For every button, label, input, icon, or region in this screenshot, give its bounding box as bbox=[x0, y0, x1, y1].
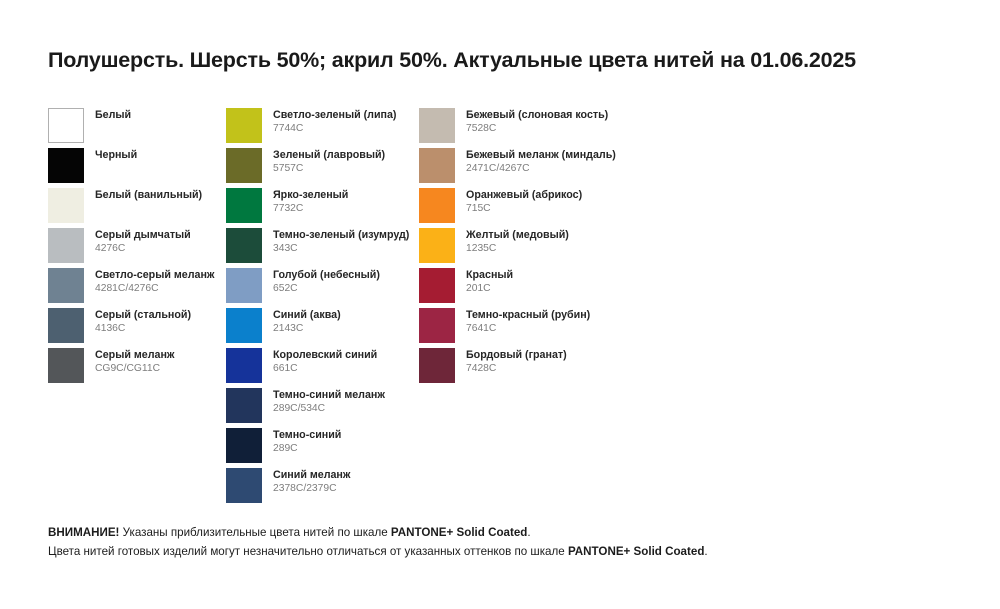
swatch-row: Голубой (небесный)652C bbox=[226, 268, 419, 308]
swatch-text: Оранжевый (абрикос)715C bbox=[455, 188, 582, 215]
swatch-row: Серый (стальной)4136C bbox=[48, 308, 226, 348]
swatch-row: Темно-синий289C bbox=[226, 428, 419, 468]
swatch-text: Бежевый (слоновая кость)7528C bbox=[455, 108, 608, 135]
swatch-text: Темно-синий меланж289C/534C bbox=[262, 388, 385, 415]
swatch-name: Красный bbox=[466, 269, 513, 282]
color-chip bbox=[226, 108, 262, 143]
swatch-row: Красный201C bbox=[419, 268, 699, 308]
swatch-text: Синий меланж2378C/2379C bbox=[262, 468, 350, 495]
page-title: Полушерсть. Шерсть 50%; акрил 50%. Актуа… bbox=[48, 48, 968, 73]
color-chip bbox=[419, 348, 455, 383]
swatch-pantone-code: 4136C bbox=[95, 323, 191, 335]
swatch-pantone-code: 652C bbox=[273, 283, 380, 295]
color-chip bbox=[48, 188, 84, 223]
swatch-name: Бордовый (гранат) bbox=[466, 349, 567, 362]
swatch-pantone-code: 715C bbox=[466, 203, 582, 215]
swatch-text: Бежевый меланж (миндаль)2471C/4267C bbox=[455, 148, 616, 175]
swatch-row: Ярко-зеленый7732C bbox=[226, 188, 419, 228]
footer-line-1-text: Указаны приблизительные цвета нитей по ш… bbox=[119, 526, 390, 539]
swatch-column-1: БелыйЧерныйБелый (ванильный)Серый дымчат… bbox=[48, 108, 226, 388]
swatch-name: Темно-синий меланж bbox=[273, 389, 385, 402]
swatch-name: Синий меланж bbox=[273, 469, 350, 482]
swatch-name: Черный bbox=[95, 149, 137, 162]
swatch-row: Серый меланжCG9C/CG11C bbox=[48, 348, 226, 388]
swatch-name: Темно-зеленый (изумруд) bbox=[273, 229, 409, 242]
footer-note: ВНИМАНИЕ! Указаны приблизительные цвета … bbox=[48, 524, 958, 562]
swatch-pantone-code: 289C/534C bbox=[273, 403, 385, 415]
swatch-pantone-code: 201C bbox=[466, 283, 513, 295]
color-chip bbox=[226, 388, 262, 423]
swatch-name: Темно-красный (рубин) bbox=[466, 309, 590, 322]
swatch-row: Светло-серый меланж4281C/4276C bbox=[48, 268, 226, 308]
swatch-pantone-code: 7641C bbox=[466, 323, 590, 335]
color-chip bbox=[226, 308, 262, 343]
swatch-pantone-code: 343C bbox=[273, 243, 409, 255]
color-chip bbox=[419, 148, 455, 183]
swatch-text: Голубой (небесный)652C bbox=[262, 268, 380, 295]
swatch-column-3: Бежевый (слоновая кость)7528CБежевый мел… bbox=[419, 108, 699, 388]
color-chip bbox=[419, 308, 455, 343]
color-chip bbox=[419, 108, 455, 143]
swatch-pantone-code: CG9C/CG11C bbox=[95, 363, 174, 375]
swatch-row: Белый (ванильный) bbox=[48, 188, 226, 228]
swatch-row: Королевский синий661C bbox=[226, 348, 419, 388]
swatch-row: Оранжевый (абрикос)715C bbox=[419, 188, 699, 228]
swatch-name: Синий (аква) bbox=[273, 309, 341, 322]
swatch-name: Голубой (небесный) bbox=[273, 269, 380, 282]
color-card-page: Полушерсть. Шерсть 50%; акрил 50%. Актуа… bbox=[0, 0, 1000, 609]
footer-line-1: ВНИМАНИЕ! Указаны приблизительные цвета … bbox=[48, 524, 958, 543]
swatch-text: Зеленый (лавровый)5757C bbox=[262, 148, 385, 175]
color-chip bbox=[226, 468, 262, 503]
swatch-pantone-code: 7744C bbox=[273, 123, 397, 135]
swatch-pantone-code: 4281C/4276C bbox=[95, 283, 214, 295]
swatch-name: Оранжевый (абрикос) bbox=[466, 189, 582, 202]
swatch-text: Темно-красный (рубин)7641C bbox=[455, 308, 590, 335]
swatch-column-2: Светло-зеленый (липа)7744CЗеленый (лавро… bbox=[226, 108, 419, 508]
swatch-row: Темно-красный (рубин)7641C bbox=[419, 308, 699, 348]
color-chip bbox=[48, 108, 84, 143]
swatch-name: Светло-серый меланж bbox=[95, 269, 214, 282]
swatch-name: Желтый (медовый) bbox=[466, 229, 569, 242]
swatch-text: Светло-серый меланж4281C/4276C bbox=[84, 268, 214, 295]
swatch-name: Темно-синий bbox=[273, 429, 341, 442]
footer-line-2-end: . bbox=[704, 545, 707, 558]
swatch-name: Белый bbox=[95, 109, 131, 122]
swatch-pantone-code: 7428C bbox=[466, 363, 567, 375]
color-chip bbox=[226, 188, 262, 223]
footer-brand-1: PANTONE+ Solid Coated bbox=[391, 526, 527, 539]
color-chip bbox=[48, 308, 84, 343]
swatch-name: Ярко-зеленый bbox=[273, 189, 348, 202]
color-chip bbox=[226, 228, 262, 263]
color-chip bbox=[419, 228, 455, 263]
swatch-text: Ярко-зеленый7732C bbox=[262, 188, 348, 215]
color-chip bbox=[226, 348, 262, 383]
swatch-row: Серый дымчатый4276C bbox=[48, 228, 226, 268]
swatch-name: Светло-зеленый (липа) bbox=[273, 109, 397, 122]
swatch-pantone-code: 289C bbox=[273, 443, 341, 455]
color-chip bbox=[226, 268, 262, 303]
color-chip bbox=[48, 228, 84, 263]
swatch-row: Бежевый (слоновая кость)7528C bbox=[419, 108, 699, 148]
swatch-text: Белый (ванильный) bbox=[84, 188, 202, 202]
swatch-name: Серый меланж bbox=[95, 349, 174, 362]
swatch-pantone-code: 661C bbox=[273, 363, 377, 375]
swatch-pantone-code: 2378C/2379C bbox=[273, 483, 350, 495]
swatch-name: Серый (стальной) bbox=[95, 309, 191, 322]
swatch-row: Желтый (медовый)1235C bbox=[419, 228, 699, 268]
swatch-text: Королевский синий661C bbox=[262, 348, 377, 375]
swatch-text: Темно-синий289C bbox=[262, 428, 341, 455]
swatch-row: Бордовый (гранат)7428C bbox=[419, 348, 699, 388]
swatch-pantone-code: 7528C bbox=[466, 123, 608, 135]
swatch-text: Черный bbox=[84, 148, 137, 162]
swatch-row: Черный bbox=[48, 148, 226, 188]
swatch-row: Синий меланж2378C/2379C bbox=[226, 468, 419, 508]
color-chip bbox=[419, 188, 455, 223]
swatch-row: Синий (аква)2143C bbox=[226, 308, 419, 348]
footer-attention-label: ВНИМАНИЕ! bbox=[48, 526, 119, 539]
color-chip bbox=[226, 428, 262, 463]
swatch-text: Белый bbox=[84, 108, 131, 122]
color-chip bbox=[48, 148, 84, 183]
swatch-row: Темно-синий меланж289C/534C bbox=[226, 388, 419, 428]
swatch-name: Белый (ванильный) bbox=[95, 189, 202, 202]
swatch-row: Бежевый меланж (миндаль)2471C/4267C bbox=[419, 148, 699, 188]
footer-line-2-text: Цвета нитей готовых изделий могут незнач… bbox=[48, 545, 568, 558]
swatch-name: Зеленый (лавровый) bbox=[273, 149, 385, 162]
swatch-name: Королевский синий bbox=[273, 349, 377, 362]
color-chip bbox=[419, 268, 455, 303]
swatch-text: Серый (стальной)4136C bbox=[84, 308, 191, 335]
swatch-text: Серый дымчатый4276C bbox=[84, 228, 191, 255]
swatch-name: Бежевый (слоновая кость) bbox=[466, 109, 608, 122]
swatch-row: Зеленый (лавровый)5757C bbox=[226, 148, 419, 188]
swatch-text: Красный201C bbox=[455, 268, 513, 295]
swatch-pantone-code: 4276C bbox=[95, 243, 191, 255]
color-chip bbox=[48, 268, 84, 303]
swatch-columns: БелыйЧерныйБелый (ванильный)Серый дымчат… bbox=[48, 108, 968, 508]
swatch-pantone-code: 5757C bbox=[273, 163, 385, 175]
swatch-text: Синий (аква)2143C bbox=[262, 308, 341, 335]
swatch-pantone-code: 2471C/4267C bbox=[466, 163, 616, 175]
swatch-row: Светло-зеленый (липа)7744C bbox=[226, 108, 419, 148]
swatch-name: Серый дымчатый bbox=[95, 229, 191, 242]
swatch-row: Белый bbox=[48, 108, 226, 148]
swatch-pantone-code: 1235C bbox=[466, 243, 569, 255]
footer-brand-2: PANTONE+ Solid Coated bbox=[568, 545, 704, 558]
swatch-text: Темно-зеленый (изумруд)343C bbox=[262, 228, 409, 255]
footer-line-2: Цвета нитей готовых изделий могут незнач… bbox=[48, 543, 958, 562]
swatch-text: Светло-зеленый (липа)7744C bbox=[262, 108, 397, 135]
swatch-name: Бежевый меланж (миндаль) bbox=[466, 149, 616, 162]
swatch-pantone-code: 2143C bbox=[273, 323, 341, 335]
swatch-text: Серый меланжCG9C/CG11C bbox=[84, 348, 174, 375]
swatch-text: Бордовый (гранат)7428C bbox=[455, 348, 567, 375]
swatch-text: Желтый (медовый)1235C bbox=[455, 228, 569, 255]
footer-line-1-end: . bbox=[527, 526, 530, 539]
color-chip bbox=[226, 148, 262, 183]
swatch-row: Темно-зеленый (изумруд)343C bbox=[226, 228, 419, 268]
swatch-pantone-code: 7732C bbox=[273, 203, 348, 215]
color-chip bbox=[48, 348, 84, 383]
